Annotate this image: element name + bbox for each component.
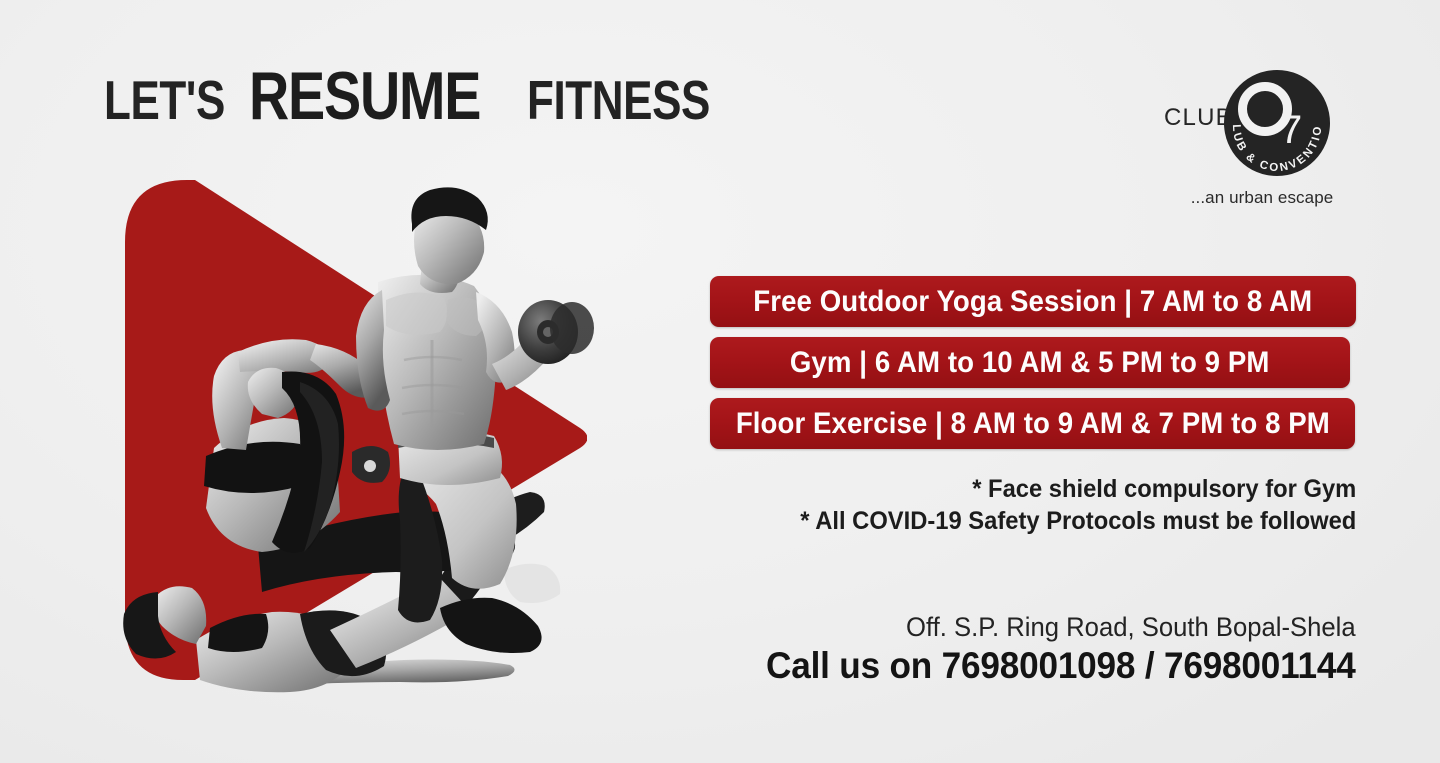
schedule-bar-label: Gym | 6 AM to 10 AM & 5 PM to 9 PM: [790, 346, 1270, 380]
contact-block: Off. S.P. Ring Road, South Bopal-Shela C…: [735, 612, 1356, 687]
logo-circle-badge: 7 CLUB & CONVENTION: [1224, 70, 1330, 176]
logo-wordmark: CLUB: [1164, 104, 1233, 132]
logo-lockup: CLUB 7 CLUB & CONVENTION: [1162, 68, 1362, 180]
safety-notes: * Face shield compulsory for Gym * All C…: [771, 474, 1356, 538]
logo-arc-text: CLUB & CONVENTION: [1224, 70, 1330, 176]
schedule-bar-floor-exercise[interactable]: Floor Exercise | 8 AM to 9 AM & 7 PM to …: [710, 398, 1355, 449]
schedule-bar-label: Floor Exercise | 8 AM to 9 AM & 7 PM to …: [735, 407, 1329, 441]
schedule-bar-yoga[interactable]: Free Outdoor Yoga Session | 7 AM to 8 AM: [710, 276, 1356, 327]
poster-canvas: LET'S RESUME FITNESS CLUB 7 CLUB & CONVE…: [0, 0, 1440, 763]
phone-text[interactable]: Call us on 7698001098 / 7698001144: [766, 645, 1356, 687]
note-covid-protocols: * All COVID-19 Safety Protocols must be …: [800, 506, 1356, 538]
address-text: Off. S.P. Ring Road, South Bopal-Shela: [766, 612, 1356, 643]
schedule-bar-label: Free Outdoor Yoga Session | 7 AM to 8 AM: [754, 285, 1313, 319]
logo-tagline: ...an urban escape: [1162, 188, 1362, 208]
note-face-shield: * Face shield compulsory for Gym: [800, 474, 1356, 506]
schedule-bar-gym[interactable]: Gym | 6 AM to 10 AM & 5 PM to 9 PM: [710, 337, 1350, 388]
brand-logo: CLUB 7 CLUB & CONVENTION ...an urban esc…: [1162, 68, 1362, 228]
schedule-list: Free Outdoor Yoga Session | 7 AM to 8 AM…: [710, 276, 1356, 459]
fitness-photo: [0, 0, 660, 763]
hero-artwork: [0, 0, 660, 763]
svg-text:CLUB & CONVENTION: CLUB & CONVENTION: [1219, 61, 1325, 174]
